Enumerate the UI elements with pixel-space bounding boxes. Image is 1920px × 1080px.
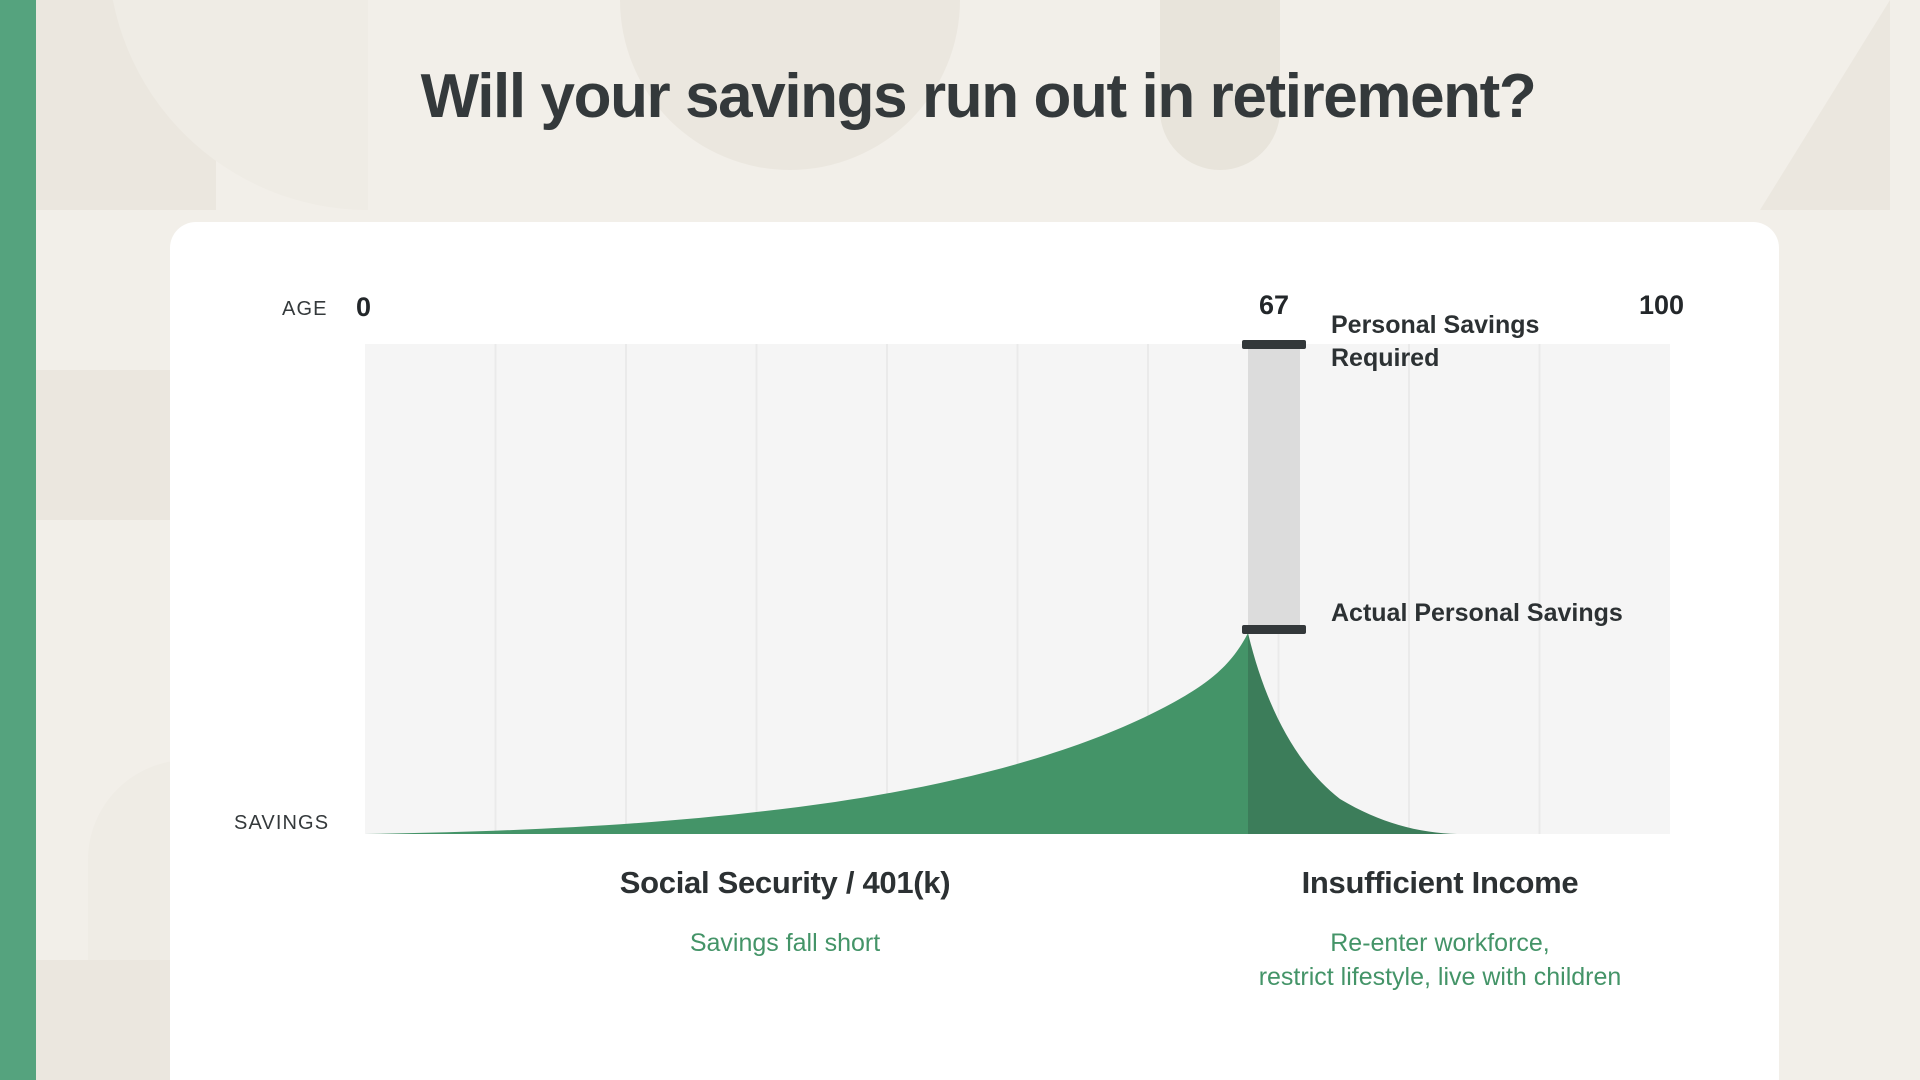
background-shape-band-left bbox=[36, 370, 176, 520]
x-tick-100: 100 bbox=[1639, 290, 1684, 321]
chart-svg bbox=[365, 344, 1670, 834]
accumulation-area bbox=[365, 633, 1248, 834]
caption-left-title: Social Security / 401(k) bbox=[460, 865, 1110, 901]
required-savings-cap-top bbox=[1242, 340, 1306, 349]
page-title: Will your savings run out in retirement? bbox=[36, 62, 1920, 131]
callout-personal-savings-required: Personal Savings Required bbox=[1331, 309, 1631, 374]
background-shape-block-bottomleft bbox=[36, 960, 186, 1080]
caption-accumulation-phase: Social Security / 401(k) Savings fall sh… bbox=[460, 865, 1110, 961]
caption-depletion-phase: Insufficient Income Re-enter workforce,r… bbox=[1130, 865, 1750, 995]
caption-left-subtitle: Savings fall short bbox=[460, 927, 1110, 961]
infographic-canvas: Will your savings run out in retirement?… bbox=[0, 0, 1920, 1080]
required-savings-bar bbox=[1248, 347, 1300, 630]
callout-actual-personal-savings: Actual Personal Savings bbox=[1331, 597, 1631, 630]
x-tick-67: 67 bbox=[1259, 290, 1289, 321]
caption-right-title: Insufficient Income bbox=[1130, 865, 1750, 901]
actual-savings-cap-bottom bbox=[1242, 625, 1306, 634]
left-accent-rail bbox=[0, 0, 36, 1080]
y-axis-label: SAVINGS bbox=[234, 812, 329, 835]
caption-right-subtitle: Re-enter workforce,restrict lifestyle, l… bbox=[1130, 927, 1750, 995]
chart-plot-area bbox=[365, 344, 1670, 834]
x-tick-0: 0 bbox=[356, 292, 371, 323]
gridlines bbox=[496, 344, 1540, 834]
x-axis-label: AGE bbox=[282, 298, 328, 321]
